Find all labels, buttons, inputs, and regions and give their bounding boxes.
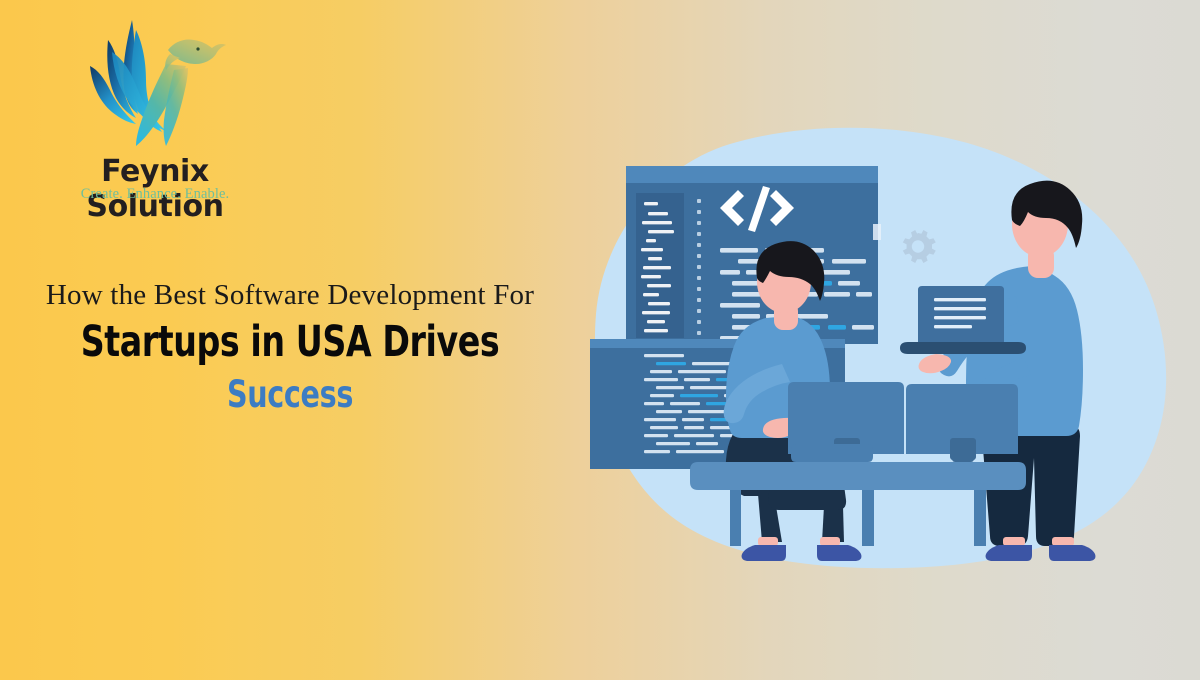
headline-line-3: Success xyxy=(41,371,540,419)
logo-tagline: Create. Enhance. Enable. xyxy=(30,186,280,203)
phoenix-bird-mark xyxy=(70,14,240,154)
headline-line-2: Startups in USA Drives xyxy=(41,313,540,371)
desk-leg xyxy=(974,490,986,546)
headline-line-1: How the Best Software Development For xyxy=(0,278,580,313)
headline-block: How the Best Software Development For St… xyxy=(0,278,580,420)
keyboard xyxy=(791,444,873,462)
main-code-screen xyxy=(626,166,881,344)
shoe xyxy=(1049,545,1095,561)
brand-logo[interactable]: Feynix Solution Create. Enhance. Enable. xyxy=(30,14,280,204)
desk-leg xyxy=(862,490,874,546)
scrollbar-handle xyxy=(873,224,881,240)
software-development-team-illustration xyxy=(560,96,1200,586)
